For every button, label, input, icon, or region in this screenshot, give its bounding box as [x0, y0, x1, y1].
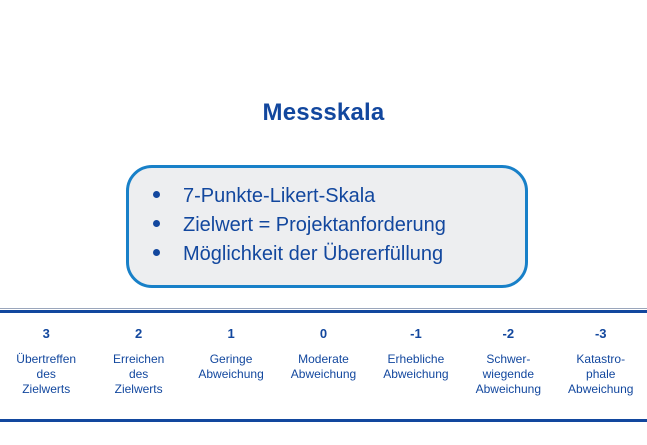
scale-point-3: 3 Übertreffen des Zielwerts — [0, 326, 92, 397]
scale-point-minus-3: -3 Katastro- phale Abweichung — [555, 326, 647, 397]
scale-divider-thin — [0, 308, 647, 309]
measurement-scale: 3 Übertreffen des Zielwerts 2 Erreichen … — [0, 308, 647, 397]
list-item: Zielwert = Projektanforderung — [153, 211, 446, 240]
scale-label: Moderate Abweichung — [277, 352, 369, 382]
scale-label: Katastro- phale Abweichung — [555, 352, 647, 397]
scale-point-minus-1: -1 Erhebliche Abweichung — [370, 326, 462, 397]
bullet-list: 7-Punkte-Likert-Skala Zielwert = Projekt… — [153, 182, 446, 269]
scale-value: 1 — [185, 326, 277, 342]
scale-point-minus-2: -2 Schwer- wiegende Abweichung — [462, 326, 554, 397]
bullet-text: Möglichkeit der Übererfüllung — [183, 240, 443, 269]
scale-label: Schwer- wiegende Abweichung — [462, 352, 554, 397]
bullet-dot-icon — [153, 191, 160, 198]
scale-value: 3 — [0, 326, 92, 342]
callout-box: 7-Punkte-Likert-Skala Zielwert = Projekt… — [126, 165, 528, 288]
list-item: Möglichkeit der Übererfüllung — [153, 240, 446, 269]
scale-label: Geringe Abweichung — [185, 352, 277, 382]
scale-label: Übertreffen des Zielwerts — [0, 352, 92, 397]
scale-point-0: 0 Moderate Abweichung — [277, 326, 369, 397]
scale-divider-bottom — [0, 419, 647, 422]
scale-value: 0 — [277, 326, 369, 342]
scale-value: -1 — [370, 326, 462, 342]
scale-columns: 3 Übertreffen des Zielwerts 2 Erreichen … — [0, 313, 647, 397]
scale-value: -3 — [555, 326, 647, 342]
scale-label: Erhebliche Abweichung — [370, 352, 462, 382]
scale-value: -2 — [462, 326, 554, 342]
scale-label: Erreichen des Zielwerts — [92, 352, 184, 397]
bullet-text: 7-Punkte-Likert-Skala — [183, 182, 375, 211]
page-title: Messskala — [0, 99, 647, 127]
bullet-dot-icon — [153, 220, 160, 227]
bullet-text: Zielwert = Projektanforderung — [183, 211, 446, 240]
scale-value: 2 — [92, 326, 184, 342]
scale-point-1: 1 Geringe Abweichung — [185, 326, 277, 397]
bullet-dot-icon — [153, 249, 160, 256]
scale-point-2: 2 Erreichen des Zielwerts — [92, 326, 184, 397]
list-item: 7-Punkte-Likert-Skala — [153, 182, 446, 211]
